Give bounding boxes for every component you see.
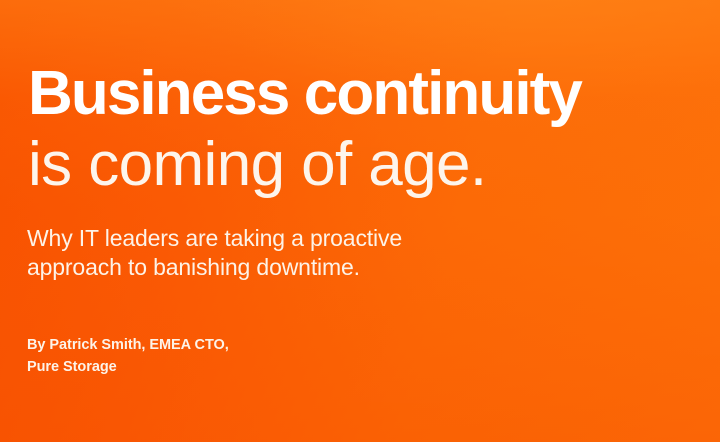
byline-company: Pure Storage [27, 356, 447, 378]
byline: By Patrick Smith, EMEA CTO, Pure Storage [27, 334, 447, 378]
subheading-line-1: Why IT leaders are taking a proactive [27, 224, 587, 253]
headline-line-2: is coming of age. [28, 129, 708, 200]
slide-content: Business continuity is coming of age. Wh… [0, 0, 720, 442]
title-slide: Business continuity is coming of age. Wh… [0, 0, 720, 442]
subheading-line-2: approach to banishing downtime. [27, 253, 587, 282]
byline-author-title: By Patrick Smith, EMEA CTO, [27, 334, 447, 356]
headline-line-1: Business continuity [28, 58, 708, 129]
headline: Business continuity is coming of age. [28, 58, 708, 200]
subheading: Why IT leaders are taking a proactive ap… [27, 224, 587, 282]
